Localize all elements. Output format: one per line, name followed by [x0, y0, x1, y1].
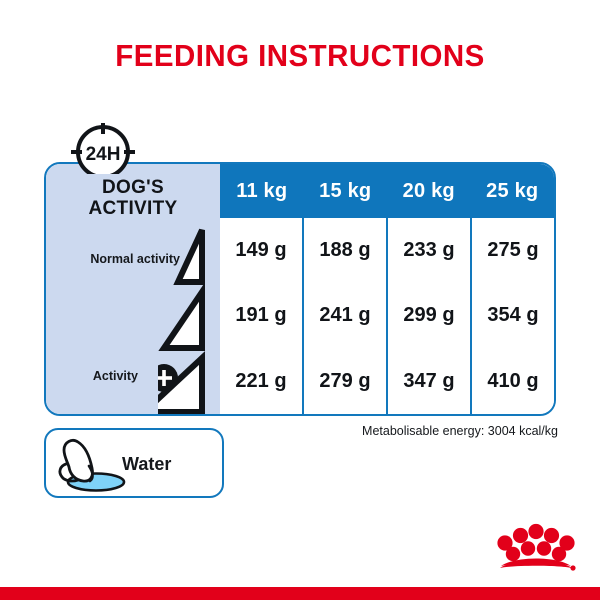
- ration-value: 347 g: [388, 349, 470, 414]
- values-area: 11 kg 15 kg 20 kg 25 kg 149 g 191 g 221 …: [220, 164, 554, 414]
- ration-value: 149 g: [220, 218, 302, 283]
- water-panel: Water: [44, 428, 224, 498]
- ration-value: 233 g: [388, 218, 470, 283]
- feeding-instructions-page: FEEDING INSTRUCTIONS 24H DOG'S ACTIVITY …: [0, 0, 600, 600]
- activity-label-increased: Activity: [46, 369, 138, 383]
- weight-column-header: 25 kg: [471, 164, 555, 218]
- activity-title-line-2: ACTIVITY: [46, 199, 220, 220]
- values-column: 233 g 299 g 347 g: [386, 218, 470, 414]
- ration-value: 299 g: [388, 283, 470, 348]
- values-column: 275 g 354 g 410 g: [470, 218, 554, 414]
- metabolisable-energy-note: Metabolisable energy: 3004 kcal/kg: [362, 424, 558, 438]
- weight-column-header: 11 kg: [220, 164, 304, 218]
- ration-value: 275 g: [472, 218, 554, 283]
- feeding-table: DOG'S ACTIVITY Normal activity Activity: [44, 162, 556, 416]
- weight-column-header: 20 kg: [387, 164, 471, 218]
- activity-wedge-icon: [158, 226, 220, 416]
- ration-value: 410 g: [472, 349, 554, 414]
- wedge-tier-2: [164, 292, 202, 348]
- ration-value: 221 g: [220, 349, 302, 414]
- weights-header-row: 11 kg 15 kg 20 kg 25 kg: [220, 164, 554, 218]
- ration-value: 279 g: [304, 349, 386, 414]
- ration-value: 191 g: [220, 283, 302, 348]
- values-body: 149 g 191 g 221 g 188 g 241 g 279 g 233 …: [220, 218, 554, 414]
- page-title: FEEDING INSTRUCTIONS: [15, 38, 585, 74]
- clock-24h-icon: 24H: [66, 122, 140, 174]
- ration-value: 188 g: [304, 218, 386, 283]
- activity-panel-title: DOG'S ACTIVITY: [46, 178, 220, 219]
- water-label: Water: [122, 454, 171, 475]
- wedge-tier-1: [178, 230, 202, 282]
- activity-title-line-1: DOG'S: [46, 178, 220, 199]
- activity-panel: DOG'S ACTIVITY Normal activity Activity: [46, 164, 220, 414]
- royal-canin-crown-logo: [494, 516, 578, 578]
- clock-badge-label: 24H: [86, 144, 121, 165]
- values-column: 188 g 241 g 279 g: [302, 218, 386, 414]
- ration-value: 241 g: [304, 283, 386, 348]
- bottom-accent-bar: [0, 587, 600, 600]
- values-column: 149 g 191 g 221 g: [220, 218, 302, 414]
- ration-value: 354 g: [472, 283, 554, 348]
- weight-column-header: 15 kg: [304, 164, 388, 218]
